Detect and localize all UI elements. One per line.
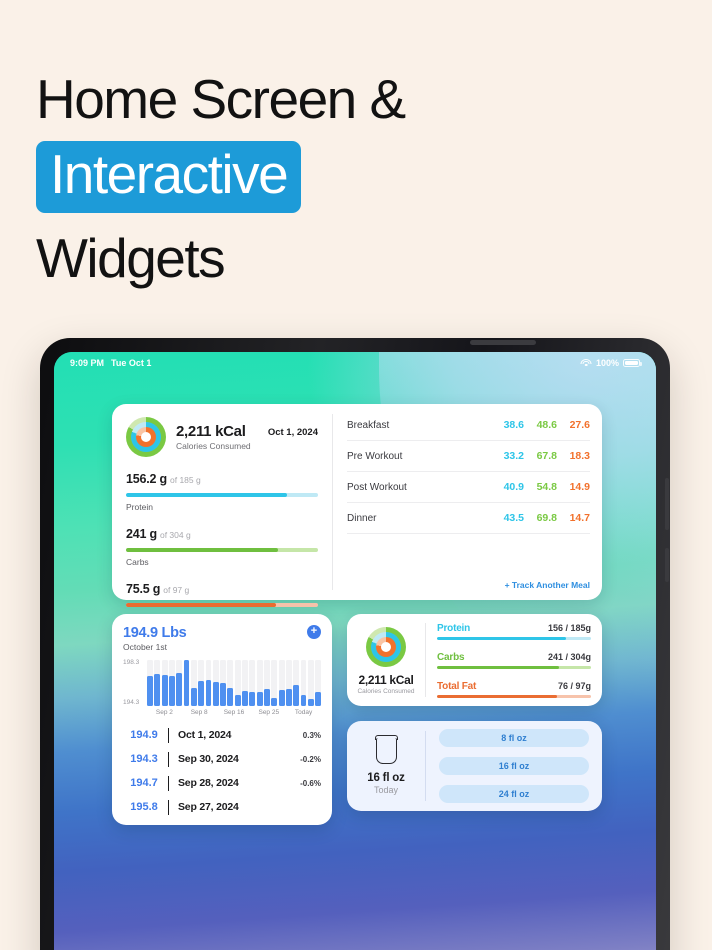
chart-bar xyxy=(235,660,241,706)
water-summary-pane: 16 fl oz Today xyxy=(347,721,425,811)
chart-bars xyxy=(147,660,321,706)
nutrition-summary-pane: 2,211 kCal Calories Consumed Oct 1, 2024… xyxy=(112,404,332,600)
tablet-volume-down-button[interactable] xyxy=(665,548,669,582)
water-amount: 16 fl oz xyxy=(367,772,404,784)
macro-widget-list: Protein 156 / 185g Carbs 241 / 304g xyxy=(426,614,602,706)
row-divider xyxy=(168,752,169,767)
glass-icon xyxy=(376,738,397,764)
macro-protein-goal: of 185 g xyxy=(170,475,201,485)
macro-item-name: Total Fat xyxy=(437,681,476,692)
macro-widget-calories: 2,211 kCal xyxy=(358,673,413,687)
macro-item-name: Protein xyxy=(437,623,470,634)
table-row[interactable]: Breakfast 38.6 48.6 27.6 xyxy=(347,410,590,441)
water-widget[interactable]: 16 fl oz Today 8 fl oz 16 fl oz 24 fl oz xyxy=(347,721,602,811)
status-bar: 9:09 PM Tue Oct 1 100% xyxy=(54,352,656,374)
headline-highlight-wrap: Interactive xyxy=(36,141,301,213)
meal-fat: 18.3 xyxy=(557,450,590,462)
weight-change: -0.2% xyxy=(300,755,321,764)
chart-bar xyxy=(198,660,204,706)
row-divider xyxy=(168,800,169,815)
macro-fat-goal: of 97 g xyxy=(163,585,189,595)
wifi-icon xyxy=(581,359,592,368)
nutrition-widget[interactable]: 2,211 kCal Calories Consumed Oct 1, 2024… xyxy=(112,404,602,600)
y-axis-tick-low: 194.3 xyxy=(123,699,139,706)
chart-bar xyxy=(206,660,212,706)
macro-item-amount: 241 / 304g xyxy=(548,652,591,662)
widget-grid: 2,211 kCal Calories Consumed Oct 1, 2024… xyxy=(112,404,602,825)
chart-bar xyxy=(154,660,160,706)
plus-icon[interactable]: + xyxy=(307,625,321,639)
macro-item-amount: 156 / 185g xyxy=(548,623,591,633)
macro-widget-caption: Calories Consumed xyxy=(357,688,414,695)
chart-bar xyxy=(176,660,182,706)
macro-widget-ring-pane: 2,211 kCal Calories Consumed xyxy=(347,614,425,706)
calorie-ring-icon xyxy=(126,417,166,457)
chart-bar xyxy=(242,660,248,706)
status-bar-left: 9:09 PM Tue Oct 1 xyxy=(70,358,151,368)
y-axis-tick-high: 198.3 xyxy=(123,659,139,666)
macro-item-fat: Total Fat 76 / 97g xyxy=(437,681,591,698)
weight-change: 0.3% xyxy=(303,731,321,740)
calorie-caption: Calories Consumed xyxy=(176,441,258,451)
macro-widget[interactable]: 2,211 kCal Calories Consumed Protein 156… xyxy=(347,614,602,706)
weight-value: 194.7 xyxy=(123,777,165,789)
meal-carbs: 69.8 xyxy=(524,512,557,524)
macro-protein-bar xyxy=(126,493,318,497)
meal-carbs: 48.6 xyxy=(524,419,557,431)
chart-bar xyxy=(293,660,299,706)
status-bar-right: 100% xyxy=(581,358,640,368)
status-date: Tue Oct 1 xyxy=(111,358,151,368)
water-add-16oz-button[interactable]: 16 fl oz xyxy=(439,757,589,775)
weight-value: 195.8 xyxy=(123,801,165,813)
macro-protein: 156.2 gof 185 g Protein xyxy=(126,470,318,512)
weight-date: Sep 30, 2024 xyxy=(178,753,300,765)
chart-bar xyxy=(264,660,270,706)
chart-bar xyxy=(308,660,314,706)
chart-x-labels: Sep 2 Sep 8 Sep 16 Sep 25 Today xyxy=(123,709,321,716)
x-tick-4: Today xyxy=(286,709,321,716)
weight-date-label: October 1st xyxy=(123,642,186,652)
macro-item-protein: Protein 156 / 185g xyxy=(437,623,591,640)
macro-item-bar xyxy=(437,695,591,698)
macro-carbs-goal: of 304 g xyxy=(160,530,191,540)
table-row[interactable]: Pre Workout 33.2 67.8 18.3 xyxy=(347,441,590,472)
chart-bar xyxy=(191,660,197,706)
weight-current-value: 194.9 Lbs xyxy=(123,625,186,641)
macro-fat-value-line: 75.5 gof 97 g xyxy=(126,580,318,598)
tablet-screen: 9:09 PM Tue Oct 1 100% xyxy=(54,352,656,950)
calorie-ring-icon xyxy=(366,627,406,667)
chart-bar xyxy=(257,660,263,706)
meal-carbs: 67.8 xyxy=(524,450,557,462)
chart-bar xyxy=(249,660,255,706)
row-divider xyxy=(168,728,169,743)
weight-value: 194.3 xyxy=(123,753,165,765)
weight-header: 194.9 Lbs October 1st + xyxy=(123,625,321,652)
status-time: 9:09 PM xyxy=(70,358,104,368)
headline-line-3: Widgets xyxy=(36,231,656,286)
macro-item-amount: 76 / 97g xyxy=(558,681,591,691)
water-add-8oz-button[interactable]: 8 fl oz xyxy=(439,729,589,747)
macro-item-bar xyxy=(437,637,591,640)
chart-bar xyxy=(147,660,153,706)
macro-carbs-label: Carbs xyxy=(126,557,318,567)
chart-bar xyxy=(227,660,233,706)
chart-bar xyxy=(213,660,219,706)
chart-bar xyxy=(279,660,285,706)
chart-bar xyxy=(271,660,277,706)
calorie-text: 2,211 kCal Calories Consumed xyxy=(176,423,258,451)
weight-history-list: 194.9 Oct 1, 2024 0.3% 194.3 Sep 30, 202… xyxy=(123,723,321,819)
chart-bar xyxy=(169,660,175,706)
list-item[interactable]: 194.9 Oct 1, 2024 0.3% xyxy=(123,723,321,747)
list-item[interactable]: 194.7 Sep 28, 2024 -0.6% xyxy=(123,771,321,795)
battery-percent: 100% xyxy=(596,358,619,368)
macro-item-carbs: Carbs 241 / 304g xyxy=(437,652,591,669)
macro-fat-value: 75.5 g xyxy=(126,582,160,596)
nutrition-date: Oct 1, 2024 xyxy=(268,427,318,438)
macro-fat-bar xyxy=(126,603,318,607)
table-row[interactable]: Dinner 43.5 69.8 14.7 xyxy=(347,503,590,534)
meal-name: Breakfast xyxy=(347,420,491,431)
macro-item-bar xyxy=(437,666,591,669)
water-quick-add-list: 8 fl oz 16 fl oz 24 fl oz xyxy=(426,721,602,811)
weight-date: Sep 27, 2024 xyxy=(178,801,321,813)
row-divider xyxy=(168,776,169,791)
meal-name: Dinner xyxy=(347,513,491,524)
x-tick-3: Sep 25 xyxy=(251,709,286,716)
meal-name: Post Workout xyxy=(347,482,491,493)
macro-protein-value-line: 156.2 gof 185 g xyxy=(126,470,318,488)
poster-page: Home Screen & Interactive Widgets 9:09 P… xyxy=(0,0,712,950)
meal-list-pane: Breakfast 38.6 48.6 27.6 Pre Workout 33.… xyxy=(333,404,602,600)
macro-protein-value: 156.2 g xyxy=(126,472,167,486)
list-item[interactable]: 195.8 Sep 27, 2024 xyxy=(123,795,321,819)
headline: Home Screen & Interactive Widgets xyxy=(36,72,656,286)
chart-bar xyxy=(184,660,190,706)
table-row[interactable]: Post Workout 40.9 54.8 14.9 xyxy=(347,472,590,503)
macro-carbs-value: 241 g xyxy=(126,527,157,541)
meal-fat: 27.6 xyxy=(557,419,590,431)
meal-name: Pre Workout xyxy=(347,451,491,462)
weight-bar-chart: 198.3 194.3 xyxy=(123,660,321,706)
tablet-top-button[interactable] xyxy=(470,340,536,345)
chart-bar xyxy=(301,660,307,706)
tablet-volume-up-button[interactable] xyxy=(665,478,669,530)
weight-date: Sep 28, 2024 xyxy=(178,777,300,789)
right-widget-column: 2,211 kCal Calories Consumed Protein 156… xyxy=(347,614,602,825)
meal-protein: 33.2 xyxy=(491,450,524,462)
meal-protein: 40.9 xyxy=(491,481,524,493)
macro-carbs: 241 gof 304 g Carbs xyxy=(126,525,318,567)
tablet-device: 9:09 PM Tue Oct 1 100% xyxy=(40,338,670,950)
battery-icon xyxy=(623,359,640,368)
track-another-meal-link[interactable]: + Track Another Meal xyxy=(347,580,590,592)
water-add-24oz-button[interactable]: 24 fl oz xyxy=(439,785,589,803)
weight-header-text: 194.9 Lbs October 1st xyxy=(123,625,186,652)
chart-bar xyxy=(286,660,292,706)
list-item[interactable]: 194.3 Sep 30, 2024 -0.2% xyxy=(123,747,321,771)
chart-bar xyxy=(220,660,226,706)
chart-bar xyxy=(315,660,321,706)
x-tick-0: Sep 2 xyxy=(147,709,182,716)
calorie-header: 2,211 kCal Calories Consumed Oct 1, 2024 xyxy=(126,417,318,457)
bottom-widget-row: 194.9 Lbs October 1st + 198.3 194.3 Sep … xyxy=(112,614,602,825)
meal-protein: 38.6 xyxy=(491,419,524,431)
headline-line-1: Home Screen & xyxy=(36,72,656,127)
macro-carbs-bar xyxy=(126,548,318,552)
weight-widget[interactable]: 194.9 Lbs October 1st + 198.3 194.3 Sep … xyxy=(112,614,332,825)
meal-carbs: 54.8 xyxy=(524,481,557,493)
chart-bar xyxy=(162,660,168,706)
headline-highlight: Interactive xyxy=(36,141,301,213)
weight-change: -0.6% xyxy=(300,779,321,788)
macro-protein-label: Protein xyxy=(126,502,318,512)
macro-item-name: Carbs xyxy=(437,652,464,663)
weight-date: Oct 1, 2024 xyxy=(178,729,303,741)
macro-carbs-value-line: 241 gof 304 g xyxy=(126,525,318,543)
water-period: Today xyxy=(374,785,398,795)
weight-value: 194.9 xyxy=(123,729,165,741)
meal-fat: 14.9 xyxy=(557,481,590,493)
meal-fat: 14.7 xyxy=(557,512,590,524)
calorie-value: 2,211 kCal xyxy=(176,423,258,440)
meal-protein: 43.5 xyxy=(491,512,524,524)
x-tick-1: Sep 8 xyxy=(182,709,217,716)
x-tick-2: Sep 16 xyxy=(217,709,252,716)
